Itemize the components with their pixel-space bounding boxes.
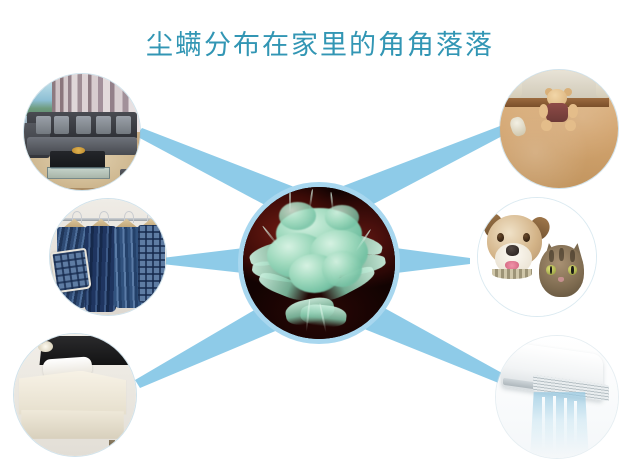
node-carpet[interactable]	[500, 70, 618, 188]
clothes-image	[50, 199, 166, 315]
air-conditioner-image	[496, 336, 618, 458]
carpet-image	[500, 70, 618, 188]
center-dust-mite-node[interactable]	[238, 182, 400, 344]
node-pets[interactable]	[478, 198, 596, 316]
node-clothes[interactable]	[50, 199, 166, 315]
node-ac[interactable]	[496, 336, 618, 458]
sofa-image	[24, 74, 140, 190]
node-sofa[interactable]	[24, 74, 140, 190]
bed-image	[14, 334, 136, 456]
pets-image	[478, 198, 596, 316]
node-bed[interactable]	[14, 334, 136, 456]
infographic-canvas: 尘螨分布在家里的角角落落	[0, 0, 640, 462]
ray-pets	[388, 247, 470, 274]
